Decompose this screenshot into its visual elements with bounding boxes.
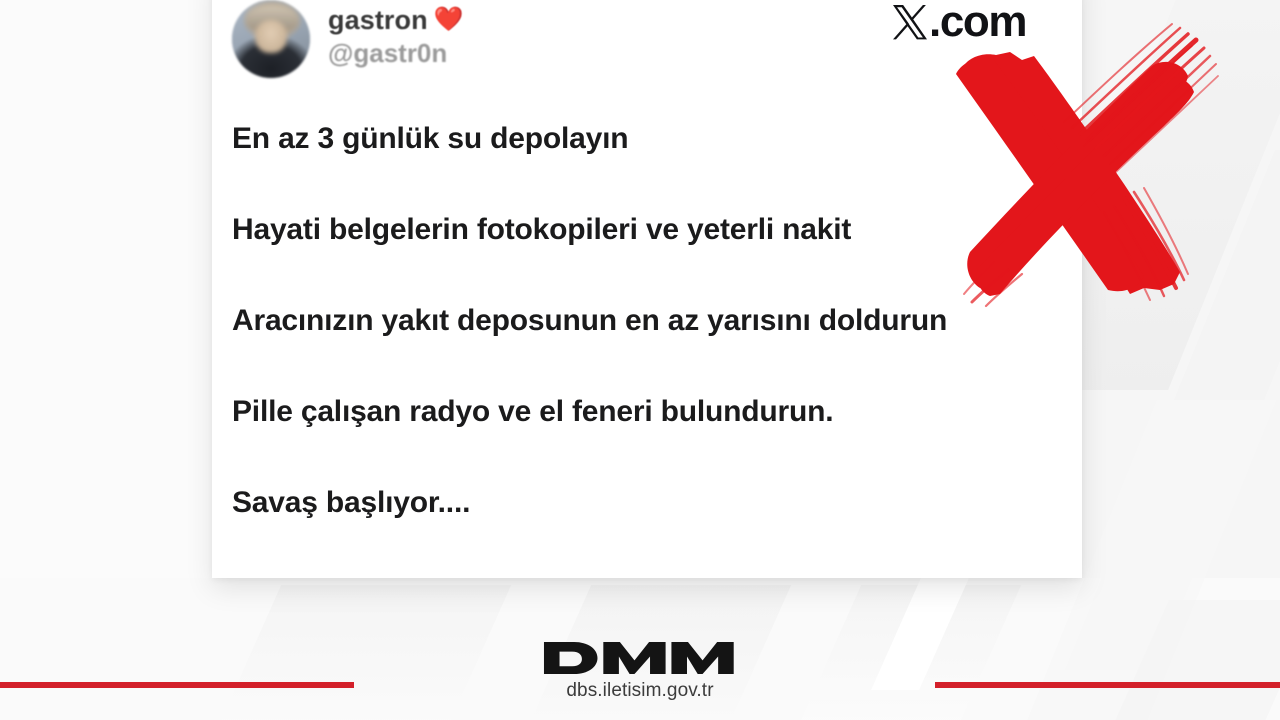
tweet-author-header: gastron ❤️ @gastr0n	[232, 0, 464, 78]
tweet-line: Savaş başlıyor....	[232, 486, 1068, 519]
x-com-platform-badge: .com	[893, 3, 1026, 41]
tweet-line: En az 3 günlük su depolayın	[232, 122, 1068, 155]
x-com-label: .com	[929, 3, 1026, 41]
dmm-logo-icon	[543, 640, 738, 676]
x-logo-icon	[893, 3, 927, 41]
tweet-line: Aracınızın yakıt deposunun en az yarısın…	[232, 304, 1068, 337]
user-avatar-photo-icon	[232, 0, 310, 78]
author-handle: @gastr0n	[328, 40, 464, 68]
author-display-name-row: gastron ❤️	[328, 6, 464, 35]
author-name-block: gastron ❤️ @gastr0n	[328, 0, 464, 67]
tweet-screenshot-card: gastron ❤️ @gastr0n En az 3 günlük su de…	[212, 0, 1082, 578]
tweet-body-text: En az 3 günlük su depolayın Hayati belge…	[232, 122, 1068, 519]
tweet-line: Hayati belgelerin fotokopileri ve yeterl…	[232, 213, 1068, 246]
screenshot-stage: gastron ❤️ @gastr0n En az 3 günlük su de…	[0, 0, 1280, 720]
avatar-face-shape	[255, 20, 286, 53]
tweet-line: Pille çalışan radyo ve el feneri bulundu…	[232, 395, 1068, 428]
footer-url: dbs.iletisim.gov.tr	[0, 680, 1280, 702]
footer-brand: dbs.iletisim.gov.tr	[0, 640, 1280, 702]
author-display-name: gastron	[328, 6, 428, 35]
red-heart-icon: ❤️	[434, 8, 464, 32]
